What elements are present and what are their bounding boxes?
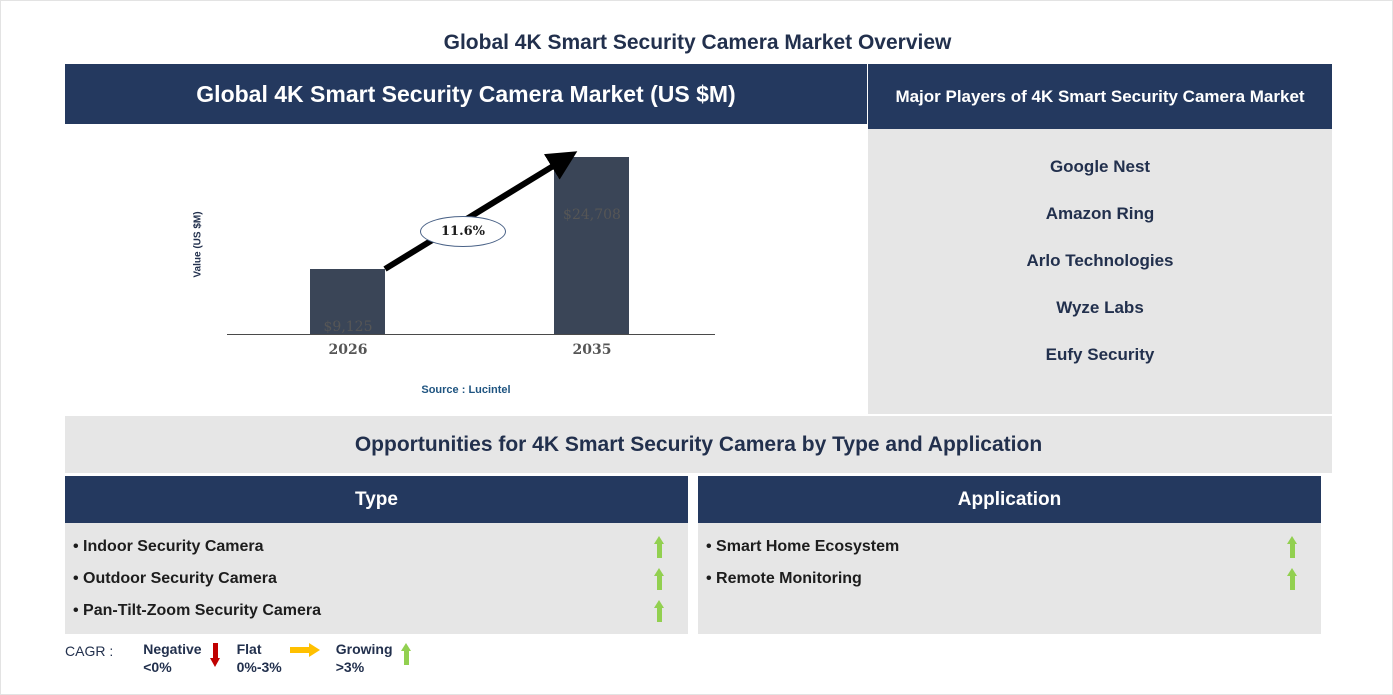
x-tick-2035: 2035 — [542, 342, 642, 358]
cagr-legend-negative-range: <0% — [143, 659, 201, 677]
cagr-legend-negative-text: Negative <0% — [143, 641, 201, 676]
list-item: Eufy Security — [868, 331, 1332, 378]
type-column: Type Indoor Security Camera Outdoor Secu… — [65, 476, 688, 634]
type-item-label: Indoor Security Camera — [73, 538, 648, 556]
type-item-label: Pan-Tilt-Zoom Security Camera — [73, 602, 648, 620]
arrow-up-icon — [1287, 536, 1298, 558]
market-chart-header: Global 4K Smart Security Camera Market (… — [65, 64, 867, 124]
type-column-body: Indoor Security Camera Outdoor Security … — [65, 523, 688, 634]
major-players-list: Google Nest Amazon Ring Arlo Technologie… — [868, 129, 1332, 414]
bar-2035 — [554, 157, 629, 334]
market-chart-panel: Global 4K Smart Security Camera Market (… — [65, 64, 867, 414]
list-item: Smart Home Ecosystem — [698, 531, 1321, 563]
market-chart-body: Value (US $M) $9,125 $24,708 2026 2035 — [65, 124, 867, 414]
cagr-legend: CAGR : Negative <0% Flat 0%-3% Growing >… — [65, 641, 428, 687]
type-column-header: Type — [65, 476, 688, 523]
growth-arrow-icon — [65, 124, 867, 414]
trend-cell — [648, 600, 670, 622]
major-players-panel: Major Players of 4K Smart Security Camer… — [868, 64, 1332, 414]
legend-icon-wrap — [401, 641, 412, 668]
page-title: Global 4K Smart Security Camera Market O… — [1, 31, 1393, 55]
opportunities-banner: Opportunities for 4K Smart Security Came… — [65, 416, 1332, 473]
cagr-legend-negative-name: Negative — [143, 641, 201, 659]
cagr-legend-growing-text: Growing >3% — [336, 641, 393, 676]
arrow-up-icon — [654, 536, 665, 558]
list-item: Pan-Tilt-Zoom Security Camera — [65, 595, 688, 627]
list-item: Outdoor Security Camera — [65, 563, 688, 595]
arrow-up-icon — [654, 568, 665, 590]
y-axis-label: Value (US $M) — [193, 200, 204, 290]
application-column-body: Smart Home Ecosystem Remote Monitoring — [698, 523, 1321, 634]
bar-value-2026: $9,125 — [309, 319, 387, 335]
arrow-down-icon — [210, 643, 221, 667]
cagr-legend-title: CAGR : — [65, 641, 113, 659]
trend-cell — [1281, 568, 1303, 590]
list-item: Google Nest — [868, 143, 1332, 190]
arrow-up-icon — [401, 643, 412, 665]
major-players-header: Major Players of 4K Smart Security Camer… — [868, 64, 1332, 129]
application-column: Application Smart Home Ecosystem Remote … — [698, 476, 1321, 634]
x-axis-line — [227, 334, 715, 335]
arrow-up-icon — [1287, 568, 1298, 590]
legend-icon-wrap — [290, 641, 320, 660]
list-item: Amazon Ring — [868, 190, 1332, 237]
arrow-up-icon — [654, 600, 665, 622]
application-item-label: Remote Monitoring — [706, 570, 1281, 588]
opportunities-columns: Type Indoor Security Camera Outdoor Secu… — [65, 476, 1332, 634]
list-item: Remote Monitoring — [698, 563, 1321, 595]
cagr-legend-flat-range: 0%-3% — [237, 659, 282, 677]
source-note: Source : Lucintel — [65, 384, 867, 396]
poster-page: Global 4K Smart Security Camera Market O… — [0, 0, 1393, 695]
cagr-legend-negative: Negative <0% — [143, 641, 230, 676]
x-tick-2026: 2026 — [298, 342, 398, 358]
top-row: Global 4K Smart Security Camera Market (… — [65, 64, 1332, 414]
cagr-legend-growing: Growing >3% — [336, 641, 422, 676]
trend-cell — [648, 568, 670, 590]
cagr-legend-flat-text: Flat 0%-3% — [237, 641, 282, 676]
bar-value-2035: $24,708 — [553, 207, 631, 223]
list-item: Wyze Labs — [868, 284, 1332, 331]
legend-icon-wrap — [210, 641, 221, 670]
cagr-legend-flat: Flat 0%-3% — [237, 641, 330, 676]
cagr-legend-growing-name: Growing — [336, 641, 393, 659]
list-item: Indoor Security Camera — [65, 531, 688, 563]
cagr-badge: 11.6% — [420, 216, 506, 247]
application-item-label: Smart Home Ecosystem — [706, 538, 1281, 556]
cagr-legend-flat-name: Flat — [237, 641, 282, 659]
bar-chart: Value (US $M) $9,125 $24,708 2026 2035 — [65, 124, 867, 414]
type-item-label: Outdoor Security Camera — [73, 570, 648, 588]
trend-cell — [648, 536, 670, 558]
application-column-header: Application — [698, 476, 1321, 523]
cagr-legend-growing-range: >3% — [336, 659, 393, 677]
arrow-right-icon — [290, 643, 320, 657]
trend-cell — [1281, 536, 1303, 558]
list-item: Arlo Technologies — [868, 237, 1332, 284]
